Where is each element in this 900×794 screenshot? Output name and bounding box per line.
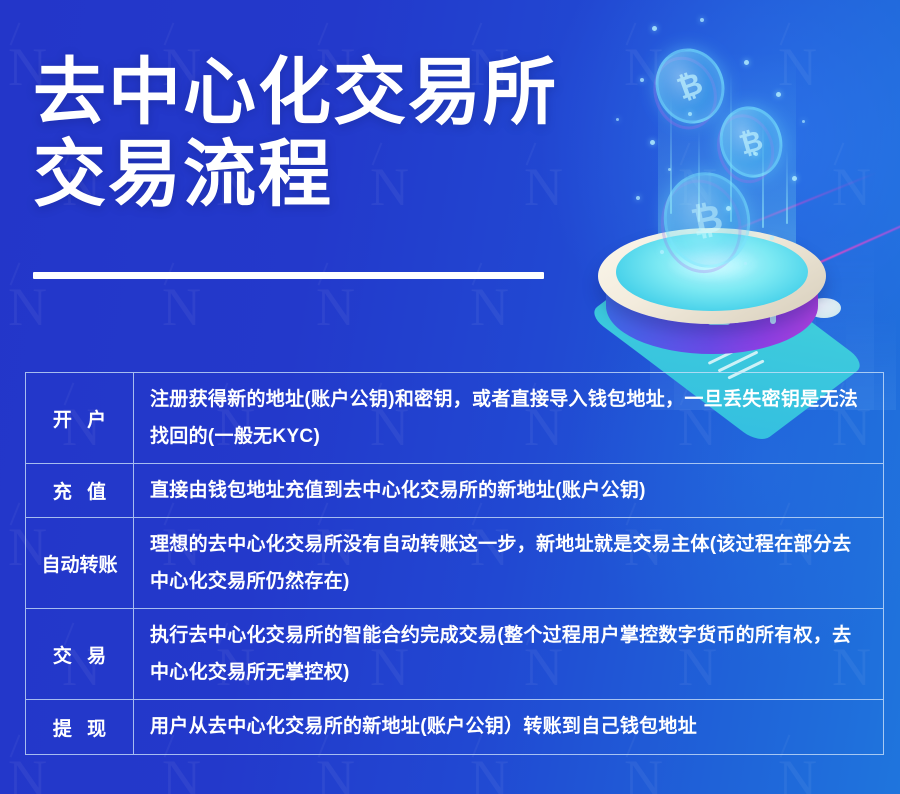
particle-dot	[688, 112, 692, 116]
cylinder-dash	[708, 320, 730, 325]
particle-dot	[744, 60, 749, 65]
title-line-2: 交易流程	[33, 134, 633, 216]
coin-symbol: ₿	[711, 99, 790, 185]
cylinder-glow	[668, 246, 758, 282]
watermark-n: N	[624, 280, 663, 334]
bitcoin-coin-icon: ₿	[711, 99, 790, 185]
particle-dot	[652, 26, 657, 31]
bitcoin-coin-icon: ₿	[645, 39, 735, 134]
hologram-ray	[762, 120, 764, 228]
coin-symbol: ₿	[645, 39, 735, 134]
cylinder-dash	[730, 318, 740, 323]
hologram-ray	[670, 96, 672, 214]
cylinder-dash	[680, 314, 700, 319]
coin-disc	[655, 164, 759, 276]
hologram-ray	[786, 150, 788, 224]
cylinder-dash	[704, 310, 718, 315]
page-title: 去中心化交易所 交易流程	[33, 52, 633, 217]
cylinder-dash-markings	[624, 290, 754, 330]
cylinder-body	[606, 258, 818, 354]
watermark-n: N	[470, 752, 509, 794]
particle-dot	[792, 176, 797, 181]
particle-dot	[668, 168, 671, 171]
cylinder-dash	[630, 302, 644, 307]
particle-dot	[776, 92, 781, 97]
particle-dot	[700, 18, 704, 22]
magenta-light-streak-secondary	[700, 172, 877, 245]
hologram-ray	[730, 72, 732, 222]
table-row: 自动转账 理想的去中心化交易所没有自动转账这一步，新地址就是交易主体(该过程在部…	[26, 518, 883, 609]
watermark-n: N	[316, 280, 355, 334]
plate-line	[718, 351, 759, 373]
particle-dot	[744, 262, 747, 265]
infographic-poster: NNNNNNNNNNNNNNNNNNNNNNNNNNNNNNNNNNNNNNNN…	[0, 0, 900, 794]
row-desc-trade: 执行去中心化交易所的智能合约完成交易(整个过程用户掌控数字货币的所有权，去中心化…	[134, 609, 883, 699]
watermark-n: N	[678, 160, 717, 214]
cylinder-dash	[676, 304, 685, 309]
row-label-open-account: 开 户	[26, 373, 134, 463]
hologram-ray	[698, 130, 700, 222]
watermark-n: N	[778, 752, 817, 794]
particle-dot	[650, 140, 655, 145]
skyline-bars	[640, 150, 900, 410]
table-row: 交 易 执行去中心化交易所的智能合约完成交易(整个过程用户掌控数字货币的所有权，…	[26, 609, 883, 700]
coin-edge	[652, 172, 750, 281]
process-table: 开 户 注册获得新的地址(账户公钥)和密钥，或者直接导入钱包地址，一旦丢失密钥是…	[25, 372, 884, 755]
row-desc-open-account: 注册获得新的地址(账户公钥)和密钥，或者直接导入钱包地址，一旦丢失密钥是无法找回…	[134, 373, 883, 463]
watermark-n: N	[162, 752, 201, 794]
watermark-n: N	[778, 280, 817, 334]
particle-dot	[660, 250, 664, 254]
watermark-n: N	[470, 280, 509, 334]
row-desc-auto-transfer: 理想的去中心化交易所没有自动转账这一步，新地址就是交易主体(该过程在部分去中心化…	[134, 518, 883, 608]
hologram-beam	[658, 52, 796, 264]
particle-dot	[802, 120, 805, 123]
watermark-n: N	[316, 752, 355, 794]
magenta-light-streak	[742, 174, 900, 298]
plate-accent-lines	[706, 348, 776, 374]
particle-dot	[754, 152, 758, 156]
row-label-trade: 交 易	[26, 609, 134, 699]
coin-disc	[711, 99, 790, 185]
particle-dot	[636, 196, 640, 200]
coin-disc	[645, 39, 735, 134]
particle-dot	[726, 206, 731, 211]
cylinder-dash	[654, 312, 670, 317]
watermark-n: N	[832, 160, 871, 214]
cylinder-dash	[624, 292, 646, 297]
table-row: 开 户 注册获得新的地址(账户公钥)和密钥，或者直接导入钱包地址，一旦丢失密钥是…	[26, 373, 883, 464]
row-desc-withdraw: 用户从去中心化交易所的新地址(账户公钥）转账到自己钱包地址	[134, 700, 883, 754]
cylinder-dash	[652, 300, 662, 305]
coin-edge	[643, 48, 727, 139]
row-desc-deposit: 直接由钱包地址充值到去中心化交易所的新地址(账户公钥)	[134, 464, 883, 517]
plate-line	[708, 342, 751, 365]
watermark-n: N	[8, 280, 47, 334]
watermark-n: N	[8, 752, 47, 794]
cylinder-rim	[598, 228, 826, 324]
row-label-deposit: 充 值	[26, 464, 134, 517]
particle-dot	[698, 228, 701, 231]
plate-indicator-dot	[807, 298, 841, 318]
bitcoin-coin-icon: ₿	[655, 164, 759, 276]
watermark-n: N	[778, 40, 817, 94]
cylinder-top-surface	[616, 233, 808, 311]
title-divider	[33, 272, 544, 279]
watermark-n: N	[162, 280, 201, 334]
row-label-withdraw: 提 现	[26, 700, 134, 754]
coin-symbol: ₿	[655, 164, 759, 276]
row-label-auto-transfer: 自动转账	[26, 518, 134, 608]
table-row: 充 值 直接由钱包地址充值到去中心化交易所的新地址(账户公钥)	[26, 464, 883, 518]
particle-dot	[640, 78, 644, 82]
particle-dot	[770, 236, 774, 240]
coin-edge	[709, 107, 782, 190]
table-row: 提 现 用户从去中心化交易所的新地址(账户公钥）转账到自己钱包地址	[26, 700, 883, 754]
cylinder-tick-mark	[770, 286, 776, 324]
watermark-n: N	[624, 752, 663, 794]
title-line-1: 去中心化交易所	[33, 52, 633, 134]
